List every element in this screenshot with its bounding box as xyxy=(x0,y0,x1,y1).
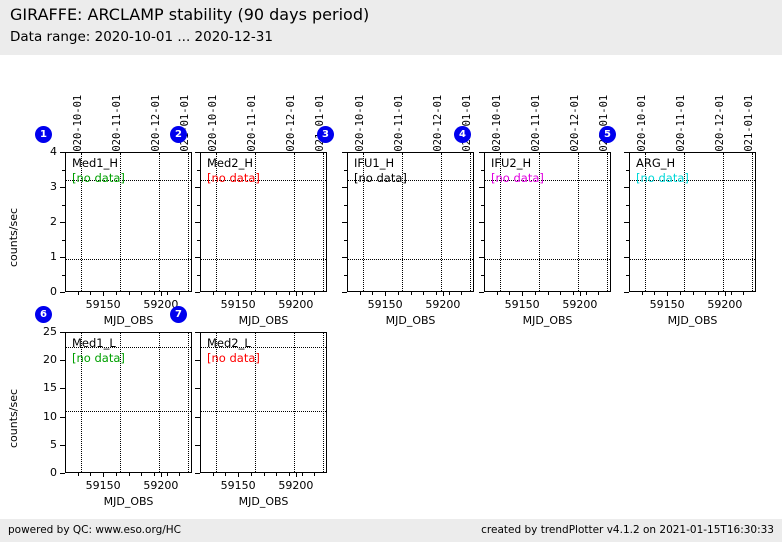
x-tick-mark-minor xyxy=(213,292,214,295)
x-tick-mark-minor xyxy=(129,473,130,476)
y-tick-mark-minor xyxy=(626,275,629,276)
x-tick-mark-minor xyxy=(90,473,91,476)
x-tick-mark xyxy=(725,292,726,296)
y-tick-mark xyxy=(624,292,629,293)
x-tick-label: 59200 xyxy=(550,298,610,311)
axes-frame: Med2_H[no data] xyxy=(200,152,327,292)
x-tick-mark-minor xyxy=(314,473,315,476)
no-data-label: [no data] xyxy=(72,351,125,365)
x-tick-mark-minor xyxy=(78,292,79,295)
y-tick-mark xyxy=(60,332,65,333)
x-tick-mark-minor xyxy=(141,292,142,295)
y-tick-label: 0 xyxy=(25,466,57,479)
x-tick-mark-minor xyxy=(225,292,226,295)
panel-title: IFU1_H xyxy=(354,156,394,170)
x-tick-mark-minor xyxy=(238,292,239,295)
y-tick-mark xyxy=(60,257,65,258)
y-tick-mark xyxy=(195,292,200,293)
y-tick-mark-minor xyxy=(62,170,65,171)
x-tick-label: 59150 xyxy=(637,298,697,311)
grid-line-vertical xyxy=(723,153,724,291)
x-tick-mark-minor xyxy=(179,473,180,476)
y-tick-mark xyxy=(195,360,200,361)
grid-line-vertical xyxy=(752,153,753,291)
panel-badge-7[interactable]: 7 xyxy=(170,306,187,323)
y-tick-mark xyxy=(195,445,200,446)
x-tick-mark xyxy=(296,473,297,477)
no-data-label: [no data] xyxy=(207,171,260,185)
grid-line-horizontal xyxy=(485,259,610,260)
grid-line-vertical xyxy=(323,153,324,291)
y-tick-mark xyxy=(195,257,200,258)
x-tick-mark-minor xyxy=(302,292,303,295)
x-tick-mark-minor xyxy=(654,292,655,295)
x-tick-mark-minor xyxy=(731,292,732,295)
y-tick-mark xyxy=(60,445,65,446)
x-tick-label: 59150 xyxy=(208,298,268,311)
x-tick-mark-minor xyxy=(103,292,104,295)
grid-line-horizontal xyxy=(66,259,191,260)
x-tick-label: 59150 xyxy=(208,479,268,492)
y-tick-mark xyxy=(195,187,200,188)
y-tick-mark-minor xyxy=(344,205,347,206)
y-tick-mark xyxy=(479,152,484,153)
y-tick-mark-minor xyxy=(626,205,629,206)
x-tick-mark-minor xyxy=(167,473,168,476)
x-tick-mark-minor xyxy=(225,473,226,476)
y-axis-label: counts/sec xyxy=(7,208,20,267)
top-date-label: 2020-12-01 xyxy=(569,95,581,158)
footer-generator: created by trendPlotter v4.1.2 on 2021-0… xyxy=(481,524,774,536)
x-tick-mark-minor xyxy=(116,292,117,295)
x-tick-mark-minor xyxy=(103,473,104,476)
y-tick-mark xyxy=(195,332,200,333)
x-tick-mark-minor xyxy=(642,292,643,295)
y-axis-label: counts/sec xyxy=(7,388,20,447)
top-date-label: 2020-12-01 xyxy=(714,95,726,158)
x-axis-label: MJD_OBS xyxy=(200,314,327,327)
y-tick-mark-minor xyxy=(62,240,65,241)
plot-grid: 12020-10-012020-11-012020-12-012021-01-0… xyxy=(0,55,782,519)
x-tick-mark-minor xyxy=(398,292,399,295)
x-tick-mark-minor xyxy=(449,292,450,295)
no-data-label: [no data] xyxy=(72,171,125,185)
top-date-label: 2020-10-01 xyxy=(636,95,648,158)
x-tick-mark-minor xyxy=(360,292,361,295)
grid-line-vertical xyxy=(159,153,160,291)
footer-credit: powered by QC: www.eso.org/HC xyxy=(8,524,181,536)
y-tick-mark-minor xyxy=(197,205,200,206)
x-tick-mark-minor xyxy=(251,292,252,295)
top-date-label: 2020-11-01 xyxy=(530,95,542,158)
y-tick-label: 10 xyxy=(25,410,57,423)
x-tick-mark-minor xyxy=(276,292,277,295)
top-date-label: 2020-12-01 xyxy=(285,95,297,158)
grid-line-vertical xyxy=(188,153,189,291)
y-tick-mark xyxy=(342,152,347,153)
x-tick-mark-minor xyxy=(116,473,117,476)
top-date-label: 2020-10-01 xyxy=(72,95,84,158)
y-tick-mark xyxy=(60,360,65,361)
y-tick-mark xyxy=(624,152,629,153)
panel-title: IFU2_H xyxy=(491,156,531,170)
grid-line-vertical xyxy=(323,333,324,472)
y-tick-mark xyxy=(624,257,629,258)
panel-badge-4[interactable]: 4 xyxy=(454,126,471,143)
axes-frame: ARG_H[no data] xyxy=(629,152,756,292)
panel-title: Med1_H xyxy=(72,156,118,170)
panel-badge-5[interactable]: 5 xyxy=(599,126,616,143)
top-date-label: 2020-10-01 xyxy=(354,95,366,158)
x-tick-label: 59150 xyxy=(73,298,133,311)
top-date-label: 2020-12-01 xyxy=(150,95,162,158)
y-tick-mark xyxy=(624,187,629,188)
x-tick-mark-minor xyxy=(264,292,265,295)
top-date-label: 2020-12-01 xyxy=(432,95,444,158)
x-tick-mark-minor xyxy=(289,292,290,295)
top-date-label: 2020-11-01 xyxy=(393,95,405,158)
x-tick-label: 59200 xyxy=(413,298,473,311)
x-tick-mark-minor xyxy=(411,292,412,295)
axes-frame: Med2_L[no data] xyxy=(200,332,327,473)
y-tick-mark xyxy=(624,222,629,223)
x-tick-mark-minor xyxy=(264,473,265,476)
y-tick-mark xyxy=(60,473,65,474)
y-tick-mark xyxy=(479,292,484,293)
y-tick-mark-minor xyxy=(626,240,629,241)
x-tick-mark-minor xyxy=(154,473,155,476)
y-tick-mark-minor xyxy=(481,205,484,206)
x-tick-mark-minor xyxy=(167,292,168,295)
panel-title: Med1_L xyxy=(72,336,116,350)
y-tick-mark xyxy=(60,388,65,389)
y-tick-mark xyxy=(479,257,484,258)
y-tick-mark-minor xyxy=(481,170,484,171)
x-tick-label: 59150 xyxy=(73,479,133,492)
x-tick-mark-minor xyxy=(436,292,437,295)
x-axis-label: MJD_OBS xyxy=(65,495,192,508)
y-tick-label: 1 xyxy=(25,250,57,263)
top-date-label: 2020-10-01 xyxy=(491,95,503,158)
x-tick-mark xyxy=(161,292,162,296)
y-tick-label: 0 xyxy=(25,285,57,298)
x-tick-mark-minor xyxy=(548,292,549,295)
footer-bar: powered by QC: www.eso.org/HC created by… xyxy=(0,519,782,542)
grid-line-horizontal xyxy=(630,259,755,260)
top-date-label: 2020-10-01 xyxy=(207,95,219,158)
y-tick-label: 25 xyxy=(25,325,57,338)
y-tick-mark xyxy=(195,222,200,223)
x-tick-mark-minor xyxy=(289,473,290,476)
x-tick-mark-minor xyxy=(154,292,155,295)
axes-frame: Med1_H[no data] xyxy=(65,152,192,292)
y-tick-mark xyxy=(60,187,65,188)
grid-line-horizontal xyxy=(348,259,473,260)
x-tick-mark-minor xyxy=(693,292,694,295)
y-tick-label: 4 xyxy=(25,145,57,158)
panel-title: Med2_H xyxy=(207,156,253,170)
grid-line-horizontal xyxy=(201,411,326,412)
x-tick-mark-minor xyxy=(598,292,599,295)
panel-badge-2[interactable]: 2 xyxy=(170,126,187,143)
x-tick-mark-minor xyxy=(718,292,719,295)
y-tick-mark xyxy=(342,292,347,293)
y-tick-mark-minor xyxy=(481,275,484,276)
grid-line-vertical xyxy=(294,333,295,472)
top-date-label: 2020-11-01 xyxy=(675,95,687,158)
y-tick-mark xyxy=(60,222,65,223)
y-tick-mark-minor xyxy=(344,170,347,171)
y-tick-mark-minor xyxy=(344,275,347,276)
axes-frame: IFU2_H[no data] xyxy=(484,152,611,292)
grid-line-horizontal xyxy=(201,259,326,260)
y-tick-label: 20 xyxy=(25,353,57,366)
x-axis-label: MJD_OBS xyxy=(484,314,611,327)
y-tick-mark xyxy=(479,222,484,223)
x-tick-mark-minor xyxy=(522,292,523,295)
page-title: GIRAFFE: ARCLAMP stability (90 days peri… xyxy=(10,5,369,24)
x-tick-label: 59200 xyxy=(266,298,326,311)
top-date-label: 2020-11-01 xyxy=(111,95,123,158)
no-data-label: [no data] xyxy=(636,171,689,185)
x-tick-mark xyxy=(580,292,581,296)
x-tick-mark-minor xyxy=(497,292,498,295)
y-tick-label: 5 xyxy=(25,438,57,451)
x-tick-label: 59150 xyxy=(355,298,415,311)
x-tick-mark-minor xyxy=(680,292,681,295)
x-tick-mark xyxy=(443,292,444,296)
x-tick-mark-minor xyxy=(314,292,315,295)
grid-line-vertical xyxy=(441,153,442,291)
x-tick-mark-minor xyxy=(276,473,277,476)
y-tick-mark-minor xyxy=(62,275,65,276)
y-tick-mark xyxy=(342,187,347,188)
y-tick-mark-minor xyxy=(197,170,200,171)
y-tick-mark-minor xyxy=(197,275,200,276)
no-data-label: [no data] xyxy=(207,351,260,365)
no-data-label: [no data] xyxy=(491,171,544,185)
grid-line-vertical xyxy=(578,153,579,291)
x-tick-mark-minor xyxy=(372,292,373,295)
grid-line-vertical xyxy=(188,333,189,472)
y-tick-mark xyxy=(195,417,200,418)
panel-badge-1[interactable]: 1 xyxy=(35,126,52,143)
y-tick-mark xyxy=(195,388,200,389)
grid-line-vertical xyxy=(607,153,608,291)
x-axis-label: MJD_OBS xyxy=(347,314,474,327)
x-tick-mark-minor xyxy=(461,292,462,295)
x-tick-mark-minor xyxy=(705,292,706,295)
x-tick-mark-minor xyxy=(586,292,587,295)
y-tick-mark xyxy=(479,187,484,188)
y-tick-mark xyxy=(60,152,65,153)
y-tick-mark xyxy=(195,473,200,474)
y-tick-label: 15 xyxy=(25,381,57,394)
panel-title: Med2_L xyxy=(207,336,251,350)
x-tick-mark-minor xyxy=(238,473,239,476)
x-tick-mark-minor xyxy=(78,473,79,476)
x-tick-mark-minor xyxy=(573,292,574,295)
x-tick-mark xyxy=(161,473,162,477)
y-tick-mark xyxy=(342,222,347,223)
top-date-label: 2020-11-01 xyxy=(246,95,258,158)
y-tick-mark-minor xyxy=(197,240,200,241)
grid-line-vertical xyxy=(159,333,160,472)
y-tick-mark xyxy=(60,292,65,293)
x-tick-mark-minor xyxy=(129,292,130,295)
page-subtitle: Data range: 2020-10-01 ... 2020-12-31 xyxy=(10,29,273,45)
y-tick-mark-minor xyxy=(62,205,65,206)
no-data-label: [no data] xyxy=(354,171,407,185)
x-tick-mark-minor xyxy=(560,292,561,295)
x-axis-label: MJD_OBS xyxy=(200,495,327,508)
x-tick-mark-minor xyxy=(302,473,303,476)
axes-frame: Med1_L[no data] xyxy=(65,332,192,473)
top-date-label: 2021-01-01 xyxy=(743,95,755,158)
y-tick-mark xyxy=(60,417,65,418)
panel-badge-6[interactable]: 6 xyxy=(35,306,52,323)
x-tick-label: 59200 xyxy=(695,298,755,311)
x-tick-mark-minor xyxy=(509,292,510,295)
y-tick-mark xyxy=(195,152,200,153)
header-bar: GIRAFFE: ARCLAMP stability (90 days peri… xyxy=(0,0,782,55)
y-tick-label: 2 xyxy=(25,215,57,228)
x-tick-mark-minor xyxy=(251,473,252,476)
x-tick-mark-minor xyxy=(90,292,91,295)
x-tick-label: 59200 xyxy=(131,479,191,492)
y-tick-mark xyxy=(342,257,347,258)
y-tick-mark-minor xyxy=(344,240,347,241)
grid-line-vertical xyxy=(294,153,295,291)
x-axis-label: MJD_OBS xyxy=(629,314,756,327)
y-tick-label: 3 xyxy=(25,180,57,193)
x-tick-mark-minor xyxy=(667,292,668,295)
x-tick-mark xyxy=(296,292,297,296)
x-tick-label: 59150 xyxy=(492,298,552,311)
x-tick-mark-minor xyxy=(423,292,424,295)
grid-line-vertical xyxy=(470,153,471,291)
panel-badge-3[interactable]: 3 xyxy=(317,126,334,143)
y-tick-mark-minor xyxy=(481,240,484,241)
y-tick-mark-minor xyxy=(626,170,629,171)
x-tick-mark-minor xyxy=(743,292,744,295)
x-tick-mark-minor xyxy=(179,292,180,295)
x-tick-mark-minor xyxy=(213,473,214,476)
grid-line-horizontal xyxy=(66,411,191,412)
x-tick-label: 59200 xyxy=(266,479,326,492)
axes-frame: IFU1_H[no data] xyxy=(347,152,474,292)
x-tick-mark-minor xyxy=(141,473,142,476)
x-tick-mark-minor xyxy=(385,292,386,295)
x-tick-mark-minor xyxy=(535,292,536,295)
panel-title: ARG_H xyxy=(636,156,675,170)
